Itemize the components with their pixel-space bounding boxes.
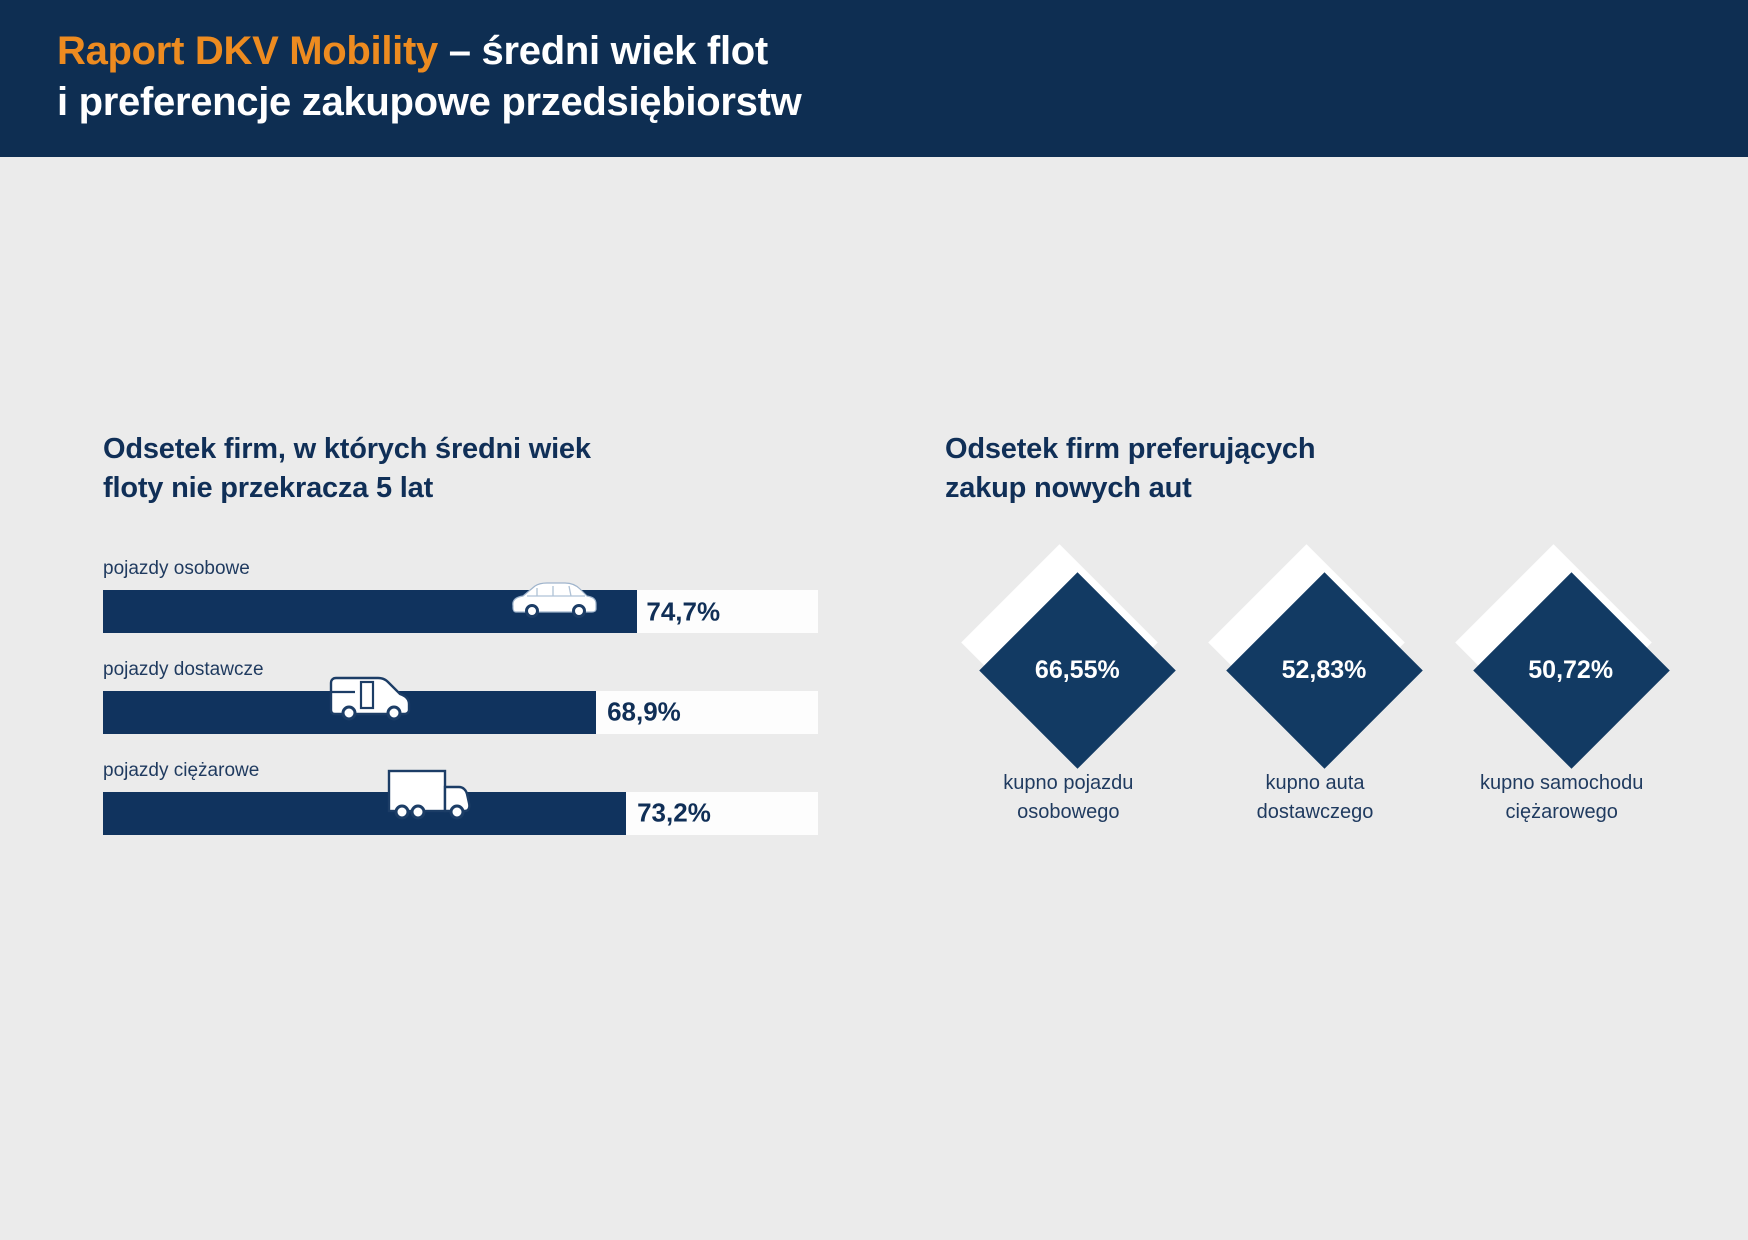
- new-car-preference-panel: Odsetek firm preferujących zakup nowych …: [945, 430, 1685, 826]
- report-brand-name: Raport DKV Mobility: [57, 29, 438, 73]
- bar-label-van: pojazdy dostawcze: [103, 660, 823, 681]
- diamond-value-passenger: 66,55%: [970, 559, 1166, 755]
- bar-value-truck: 73,2%: [637, 798, 711, 829]
- page-title: Raport DKV Mobility – średni wiek floti …: [57, 26, 801, 128]
- diamond-label-passenger: kupno pojazdu osobowego: [1003, 769, 1133, 826]
- page-title-line2: i preferencje zakupowe przedsiębiorstw: [57, 80, 801, 124]
- diamond-label-van: kupno auta dostawczego: [1257, 769, 1374, 826]
- bar-fill-van: [103, 691, 596, 734]
- diamond-passenger: 66,55%: [970, 559, 1166, 755]
- bar-track-van: 68,9%: [103, 691, 818, 734]
- diamond-label-truck: kupno samochodu ciężarowego: [1480, 769, 1643, 826]
- bar-track-truck: 73,2%: [103, 792, 818, 835]
- fleet-age-panel: Odsetek firm, w których średni wiek flot…: [103, 430, 823, 862]
- diamond-cell-van: 52,83% kupno auta dostawczego: [1192, 559, 1439, 826]
- bar-fill-passenger: [103, 590, 637, 633]
- bar-label-truck: pojazdy ciężarowe: [103, 761, 823, 782]
- page-header: Raport DKV Mobility – średni wiek floti …: [0, 0, 1748, 157]
- diamond-value-truck: 50,72%: [1464, 559, 1660, 755]
- bar-label-passenger: pojazdy osobowe: [103, 559, 823, 580]
- new-car-preference-panel-title: Odsetek firm preferujących zakup nowych …: [945, 430, 1685, 507]
- diamond-row: 66,55% kupno pojazdu osobowego 52,83% ku…: [945, 559, 1685, 826]
- fleet-age-panel-title: Odsetek firm, w których średni wiek flot…: [103, 430, 823, 507]
- diamond-cell-passenger: 66,55% kupno pojazdu osobowego: [945, 559, 1192, 826]
- diamond-truck: 50,72%: [1464, 559, 1660, 755]
- bar-track-passenger: 74,7%: [103, 590, 818, 633]
- bar-group-passenger: pojazdy osobowe 74,: [103, 559, 823, 633]
- diamond-cell-truck: 50,72% kupno samochodu ciężarowego: [1438, 559, 1685, 826]
- bar-value-van: 68,9%: [607, 697, 681, 728]
- diamond-van: 52,83%: [1217, 559, 1413, 755]
- bar-fill-truck: [103, 792, 626, 835]
- bar-value-passenger: 74,7%: [646, 596, 720, 627]
- page-title-rest: – średni wiek flot: [438, 29, 768, 73]
- bar-group-truck: pojazdy ciężarowe 73,2%: [103, 761, 823, 835]
- diamond-value-van: 52,83%: [1217, 559, 1413, 755]
- bar-group-van: pojazdy dostawcze 6: [103, 660, 823, 734]
